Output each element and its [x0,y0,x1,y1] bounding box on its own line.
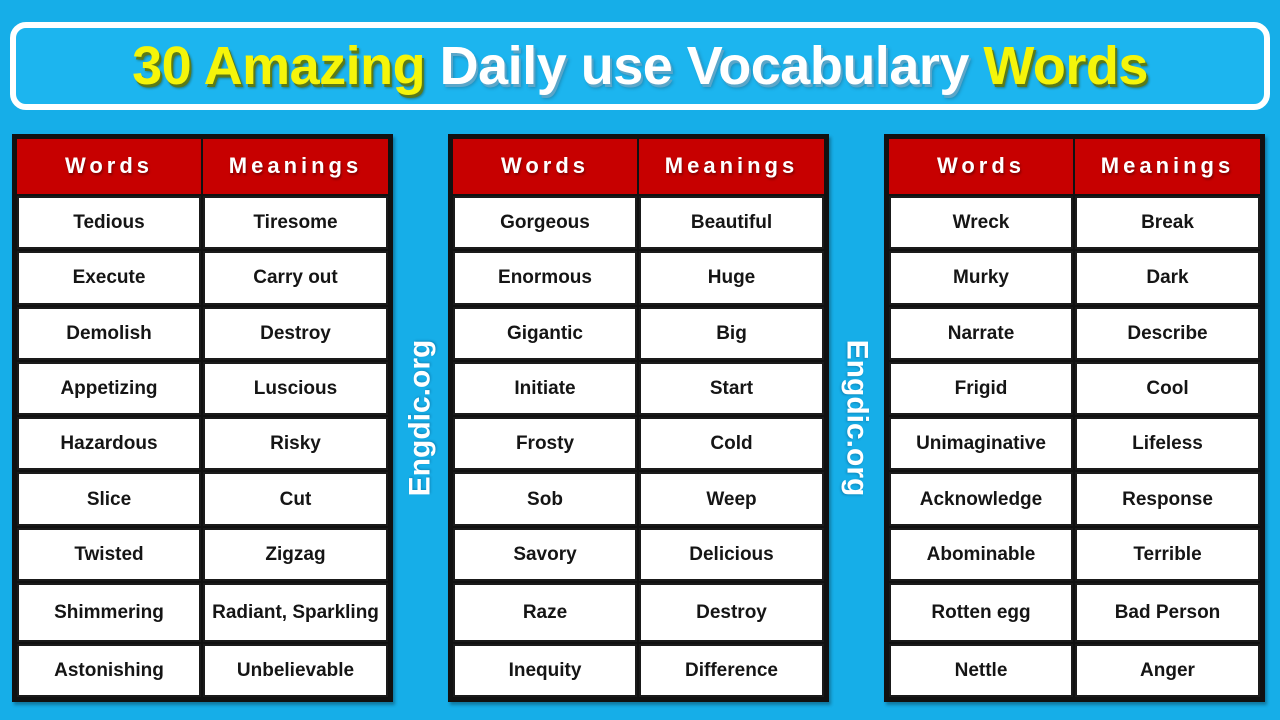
word-cell: Murky [889,251,1073,304]
word-cell: Twisted [17,528,201,581]
column-header-words: Words [17,139,201,194]
table-row: FrigidCool [888,361,1261,416]
table-row: EnormousHuge [452,250,825,305]
table-row: GorgeousBeautiful [452,195,825,250]
table-row: DemolishDestroy [16,306,389,361]
table-row: Rotten eggBad Person [888,582,1261,643]
table-row: ExecuteCarry out [16,250,389,305]
word-cell: Inequity [453,644,637,697]
table-row: WreckBreak [888,195,1261,250]
meaning-cell: Response [1075,472,1260,525]
meaning-cell: Weep [639,472,824,525]
word-cell: Execute [17,251,201,304]
word-cell: Acknowledge [889,472,1073,525]
meaning-cell: Cold [639,417,824,470]
meaning-cell: Radiant, Sparkling [203,583,388,642]
table-row: RazeDestroy [452,582,825,643]
table-row: InequityDifference [452,643,825,698]
table-row: SobWeep [452,471,825,526]
word-cell: Shimmering [17,583,201,642]
word-cell: Initiate [453,362,637,415]
word-cell: Astonishing [17,644,201,697]
table-row: NettleAnger [888,643,1261,698]
title-banner: 30 Amazing Daily use Vocabulary Words [10,22,1270,110]
meaning-cell: Beautiful [639,196,824,249]
vocabulary-columns: WordsMeaningsTediousTiresomeExecuteCarry… [0,134,1280,706]
word-cell: Appetizing [17,362,201,415]
table-row: GiganticBig [452,306,825,361]
table-row: UnimaginativeLifeless [888,416,1261,471]
word-cell: Demolish [17,307,201,360]
meaning-cell: Destroy [639,583,824,642]
meaning-cell: Terrible [1075,528,1260,581]
table-row: SliceCut [16,471,389,526]
meaning-cell: Cool [1075,362,1260,415]
watermark-text: Engdic.org [404,340,438,497]
vocabulary-table-3: WordsMeaningsWreckBreakMurkyDarkNarrateD… [884,134,1265,702]
word-cell: Nettle [889,644,1073,697]
table-header-row: WordsMeanings [452,138,825,195]
meaning-cell: Carry out [203,251,388,304]
word-cell: Tedious [17,196,201,249]
word-cell: Frosty [453,417,637,470]
word-cell: Savory [453,528,637,581]
word-cell: Gigantic [453,307,637,360]
page-title-part-3: Words [983,36,1148,96]
page-title-part-1: 30 Amazing [132,36,440,96]
word-cell: Frigid [889,362,1073,415]
column-header-meanings: Meanings [1075,139,1260,194]
table-row: MurkyDark [888,250,1261,305]
word-cell: Enormous [453,251,637,304]
table-row: FrostyCold [452,416,825,471]
watermark-2: Engdic.org [829,134,884,702]
word-cell: Sob [453,472,637,525]
meaning-cell: Dark [1075,251,1260,304]
meaning-cell: Risky [203,417,388,470]
table-header-row: WordsMeanings [16,138,389,195]
word-cell: Gorgeous [453,196,637,249]
meaning-cell: Destroy [203,307,388,360]
table-row: TediousTiresome [16,195,389,250]
column-header-meanings: Meanings [639,139,824,194]
table-row: AbominableTerrible [888,527,1261,582]
word-cell: Slice [17,472,201,525]
table-row: InitiateStart [452,361,825,416]
vocabulary-table-2: WordsMeaningsGorgeousBeautifulEnormousHu… [448,134,829,702]
watermark-text: Engdic.org [840,340,874,497]
meaning-cell: Delicious [639,528,824,581]
meaning-cell: Luscious [203,362,388,415]
word-cell: Narrate [889,307,1073,360]
word-cell: Unimaginative [889,417,1073,470]
word-cell: Abominable [889,528,1073,581]
meaning-cell: Zigzag [203,528,388,581]
table-row: TwistedZigzag [16,527,389,582]
table-row: ShimmeringRadiant, Sparkling [16,582,389,643]
table-row: AppetizingLuscious [16,361,389,416]
word-cell: Wreck [889,196,1073,249]
column-header-meanings: Meanings [203,139,388,194]
meaning-cell: Unbelievable [203,644,388,697]
vocabulary-table-1: WordsMeaningsTediousTiresomeExecuteCarry… [12,134,393,702]
column-header-words: Words [889,139,1073,194]
meaning-cell: Anger [1075,644,1260,697]
page-title: 30 Amazing Daily use Vocabulary Words [132,39,1148,93]
word-cell: Raze [453,583,637,642]
word-cell: Hazardous [17,417,201,470]
meaning-cell: Start [639,362,824,415]
table-row: HazardousRisky [16,416,389,471]
table-row: AcknowledgeResponse [888,471,1261,526]
table-header-row: WordsMeanings [888,138,1261,195]
page-title-part-2: Daily use Vocabulary [440,36,984,96]
watermark-1: Engdic.org [393,134,448,702]
meaning-cell: Break [1075,196,1260,249]
meaning-cell: Cut [203,472,388,525]
table-row: SavoryDelicious [452,527,825,582]
meaning-cell: Difference [639,644,824,697]
word-cell: Rotten egg [889,583,1073,642]
table-row: NarrateDescribe [888,306,1261,361]
meaning-cell: Huge [639,251,824,304]
meaning-cell: Tiresome [203,196,388,249]
meaning-cell: Big [639,307,824,360]
table-row: AstonishingUnbelievable [16,643,389,698]
meaning-cell: Lifeless [1075,417,1260,470]
column-header-words: Words [453,139,637,194]
meaning-cell: Describe [1075,307,1260,360]
meaning-cell: Bad Person [1075,583,1260,642]
